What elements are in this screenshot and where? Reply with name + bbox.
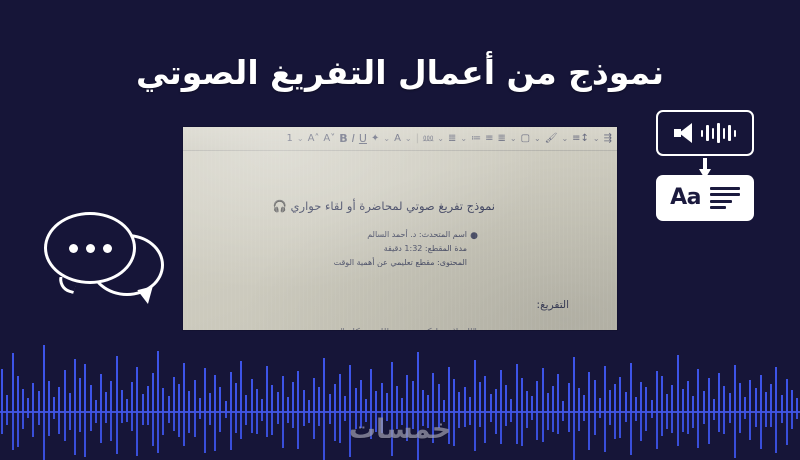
waveform-bar: [225, 401, 227, 411]
chevron-down-icon[interactable]: ⌄: [437, 135, 444, 143]
waveform-bar: [796, 398, 798, 411]
waveform-bar: [614, 384, 616, 411]
waveform-bar: [32, 383, 34, 411]
waveform-bar: [256, 389, 258, 411]
chat-bubbles-icon: [44, 212, 166, 312]
waveform-bar: [453, 379, 455, 411]
waveform-bar: [386, 393, 388, 411]
waveform-bar: [656, 371, 658, 411]
align-right-icon[interactable]: ≡: [485, 134, 493, 144]
bullet-marker: ●: [470, 229, 478, 245]
document-quote-line: "السلام عليكم ورحمة الله وبركاته": [340, 327, 477, 330]
chevron-down-icon[interactable]: ⌄: [405, 135, 412, 143]
text-highlight-icon[interactable]: A: [394, 134, 401, 144]
waveform-bar: [48, 381, 50, 411]
waveform-bar: [729, 393, 731, 411]
waveform-bar: [417, 352, 419, 411]
waveform-bar: [157, 351, 159, 411]
waveform-bar: [791, 390, 793, 411]
waveform-bar: [219, 387, 221, 411]
waveform-bar: [775, 367, 777, 411]
waveform-bar: [609, 390, 611, 411]
waveform-bar: [594, 380, 596, 411]
waveform-bar: [619, 377, 621, 411]
waveform-bar: [510, 399, 512, 411]
waveform-bar: [178, 384, 180, 411]
waveform-bar: [484, 376, 486, 411]
waveform-bar: [464, 387, 466, 411]
waveform-bar: [479, 382, 481, 411]
waveform-bar: [723, 128, 726, 139]
waveform-bar: [448, 367, 450, 411]
waveform-bar: [381, 383, 383, 411]
waveform-bar: [458, 392, 460, 411]
waveform-bar: [313, 378, 315, 411]
chevron-down-icon[interactable]: ⌄: [593, 135, 600, 143]
text-lines-icon: [710, 187, 740, 210]
waveform-bar: [131, 382, 133, 411]
document-bullet-list: ● اسم المتحدث: د. أحمد السالممدة المقطع:…: [334, 228, 467, 270]
waveform-bar: [588, 372, 590, 411]
waveform-bar: [334, 384, 336, 411]
waveform-bar: [490, 394, 492, 411]
chevron-down-icon[interactable]: ⌄: [561, 135, 568, 143]
waveform-bar: [204, 368, 206, 411]
waveform-bar: [126, 399, 128, 411]
waveform-bar: [717, 123, 720, 143]
waveform-bar: [214, 375, 216, 411]
waveform-bar: [781, 395, 783, 411]
line-spacing-icon[interactable]: ≡↕: [572, 134, 589, 144]
waveform-bar: [599, 398, 601, 411]
align-left-icon[interactable]: ≣: [448, 134, 456, 144]
waveform-bar: [116, 356, 118, 411]
waveform-bar: [728, 125, 731, 141]
waveform-bar: [105, 392, 107, 411]
waveform-bar: [687, 381, 689, 411]
waveform-bar: [6, 395, 8, 411]
typing-dot: [103, 244, 112, 253]
word-toolbar[interactable]: ⇶⌄≡↕⌄🖌⌄▢⌄≣≡≔⌄≣⌄⅏|⌄A⌄✦UIBA˅A˄⌄1: [183, 127, 617, 151]
speaker-cone: [679, 123, 692, 143]
waveform-bar: [640, 382, 642, 411]
waveform-bar: [625, 392, 627, 411]
waveform-bar: [671, 385, 673, 411]
waveform-bar: [230, 372, 232, 411]
waveform-bar: [531, 396, 533, 411]
document-bullet-item: اسم المتحدث: د. أحمد السالم: [334, 228, 467, 242]
waveform-bar: [495, 389, 497, 411]
waveform-bar: [349, 365, 351, 411]
waveform-bar: [583, 395, 585, 411]
waveform-bar: [734, 365, 736, 411]
bold-icon[interactable]: B: [339, 133, 347, 144]
waveform-bar: [271, 385, 273, 411]
waveform-bar: [266, 366, 268, 411]
waveform-bar: [292, 382, 294, 411]
waveform-bar: [708, 378, 710, 411]
document-bullet-item: المحتوى: مقطع تعليمي عن أهمية الوقت: [334, 256, 467, 270]
increase-font-icon[interactable]: A˄: [308, 134, 320, 144]
waveform-bar: [17, 376, 19, 411]
waveform-bar: [703, 391, 705, 411]
shading-icon[interactable]: 🖌: [545, 134, 558, 144]
waveform-bar: [406, 375, 408, 411]
waveform-bar: [749, 380, 751, 411]
waveform-bar: [438, 384, 440, 411]
align-justify-icon[interactable]: ≣: [497, 134, 505, 144]
waveform-bar: [718, 373, 720, 411]
waveform-bar: [162, 388, 164, 411]
waveform-bar: [360, 380, 362, 411]
waveform-bar: [505, 385, 507, 411]
waveform-bar: [706, 125, 709, 141]
waveform-bar: [235, 383, 237, 411]
waveform-bar: [427, 395, 429, 411]
page-title: نموذج من أعمال التفريغ الصوتي: [0, 52, 800, 93]
waveform-bar: [53, 397, 55, 411]
document-body: نموذج تفريغ صوتي لمحاضرة أو لقاء حواري 🎧…: [183, 151, 617, 330]
waveform-bar: [701, 130, 704, 137]
waveform-bar: [474, 360, 476, 411]
waveform-bar: [110, 381, 112, 411]
waveform-bar: [500, 370, 502, 411]
waveform-bar: [251, 379, 253, 411]
waveform-bar: [297, 371, 299, 411]
waveform-bar: [261, 399, 263, 411]
waveform-bar: [329, 394, 331, 411]
text-output-badge: Aa: [656, 175, 754, 221]
chat-bubble-back-tail: [137, 286, 156, 305]
text-line: [710, 206, 726, 209]
waveform-bar: [739, 383, 741, 411]
waveform-bar: [760, 375, 762, 411]
waveform-bar: [516, 364, 518, 411]
waveform-bar: [542, 368, 544, 411]
watermark: خمسات: [0, 414, 800, 445]
speaker-icon: [674, 123, 696, 143]
waveform-bar: [526, 391, 528, 411]
waveform-bar: [27, 398, 29, 411]
chevron-down-icon[interactable]: ⌄: [383, 135, 390, 143]
waveform-bar: [79, 378, 81, 411]
waveform-bar: [12, 353, 14, 411]
waveform-bar: [90, 385, 92, 411]
typing-dot: [86, 244, 95, 253]
decrease-font-icon[interactable]: A˅: [323, 134, 335, 144]
waveform-bar: [578, 388, 580, 411]
waveform-bar: [121, 390, 123, 411]
waveform-bar: [723, 386, 725, 411]
waveform-bar: [568, 383, 570, 411]
chevron-down-icon[interactable]: ⌄: [460, 135, 467, 143]
waveform-bar: [344, 396, 346, 411]
waveform-bar: [712, 128, 715, 139]
waveform-bar: [147, 386, 149, 411]
waveform-bar: [173, 377, 175, 411]
waveform-bar: [95, 400, 97, 411]
waveform-bar: [713, 399, 715, 411]
waveform-bar: [651, 400, 653, 411]
waveform-bar: [666, 394, 668, 411]
waveform-bar: [365, 399, 367, 411]
waveform-bar: [661, 376, 663, 411]
text-line: [710, 193, 740, 196]
waveform-bar: [355, 388, 357, 411]
numbered-list-icon[interactable]: ⅏: [423, 134, 433, 144]
waveform-bar: [183, 363, 185, 411]
waveform-bar: [552, 386, 554, 411]
waveform-bar: [318, 387, 320, 411]
typing-dot: [69, 244, 78, 253]
waveform-bar: [69, 393, 71, 411]
underline-icon[interactable]: U: [359, 133, 367, 144]
waveform-bar: [38, 391, 40, 411]
waveform-bar: [573, 357, 575, 411]
waveform-bar: [677, 355, 679, 411]
waveform-bar: [209, 393, 211, 411]
waveform-bar: [682, 389, 684, 411]
waveform-bar: [58, 387, 60, 411]
waveform-bar: [604, 366, 606, 411]
italic-icon[interactable]: I: [352, 133, 355, 144]
waveform-bar: [370, 369, 372, 411]
clear-formatting-icon[interactable]: ✦: [371, 134, 379, 144]
waveform-bar: [755, 388, 757, 411]
document-screenshot: ⇶⌄≡↕⌄🖌⌄▢⌄≣≡≔⌄≣⌄⅏|⌄A⌄✦UIBA˅A˄⌄1 نموذج تفر…: [183, 127, 617, 330]
waveform-bar: [240, 361, 242, 411]
borders-icon[interactable]: ▢: [521, 134, 530, 144]
waveform-bar: [308, 400, 310, 411]
document-heading: نموذج تفريغ صوتي لمحاضرة أو لقاء حواري 🎧: [273, 199, 495, 213]
waveform-bar: [194, 380, 196, 411]
waveform-bar: [323, 358, 325, 411]
waveform-bar: [562, 401, 564, 411]
waveform-bar: [521, 378, 523, 411]
waveform-bar: [557, 374, 559, 411]
waveform-bar: [770, 384, 772, 411]
waveform-bar: [188, 391, 190, 411]
waveform-bar: [391, 362, 393, 411]
waveform-bar: [100, 374, 102, 411]
font-size-value-icon[interactable]: 1: [287, 134, 293, 144]
waveform-bar: [697, 369, 699, 411]
waveform-bar: [645, 387, 647, 411]
waveform-bar: [375, 391, 377, 411]
waveform-bar: [734, 130, 737, 137]
waveform-bar: [303, 390, 305, 411]
waveform-bar: [245, 395, 247, 411]
waveform-bar: [630, 363, 632, 411]
waveform-bar: [744, 397, 746, 411]
audio-input-badge: [656, 110, 754, 156]
waveform-bar: [422, 390, 424, 411]
waveform-bar: [339, 374, 341, 411]
waveform-bar: [136, 367, 138, 411]
chevron-down-icon[interactable]: ⌄: [297, 135, 304, 143]
aa-label: Aa: [670, 187, 701, 209]
waveform-bar: [1, 369, 3, 411]
waveform-bar: [282, 376, 284, 411]
waveform-bar: [443, 400, 445, 411]
waveform-bar: [635, 397, 637, 411]
chevron-down-icon[interactable]: ⌄: [534, 135, 541, 143]
waveform-bar: [547, 393, 549, 411]
poster-canvas: نموذج من أعمال التفريغ الصوتي ⇶⌄≡↕⌄🖌⌄▢⌄≣…: [0, 0, 800, 460]
waveform-bar: [199, 398, 201, 411]
waveform-bar: [152, 373, 154, 411]
waveform-icon: [701, 122, 737, 144]
separator: |: [416, 134, 419, 144]
waveform-bar: [432, 373, 434, 411]
waveform-bar: [277, 392, 279, 411]
document-bullet-item: مدة المقطع: 1:32 دقيقة: [334, 242, 467, 256]
waveform-bar: [786, 379, 788, 411]
chevron-down-icon[interactable]: ⌄: [510, 135, 517, 143]
waveform-bar: [43, 345, 45, 411]
text-direction-rtl-icon[interactable]: ⇶: [604, 134, 612, 144]
text-line: [710, 187, 740, 190]
text-line: [710, 200, 732, 203]
document-section-label: التفريغ:: [537, 299, 569, 311]
waveform-bar: [74, 359, 76, 411]
waveform-bar: [22, 389, 24, 411]
waveform-bar: [469, 397, 471, 411]
waveform-bar: [64, 370, 66, 411]
waveform-bar: [765, 392, 767, 411]
align-center-icon[interactable]: ≔: [471, 134, 481, 144]
waveform-bar: [396, 386, 398, 411]
waveform-bar: [401, 398, 403, 411]
waveform-bar: [536, 381, 538, 411]
waveform-bar: [142, 394, 144, 411]
waveform-bar: [168, 396, 170, 411]
waveform-bar: [412, 381, 414, 411]
waveform-bar: [692, 396, 694, 411]
typing-dots: [44, 212, 136, 284]
waveform-bar: [84, 364, 86, 411]
waveform-bar: [287, 397, 289, 411]
